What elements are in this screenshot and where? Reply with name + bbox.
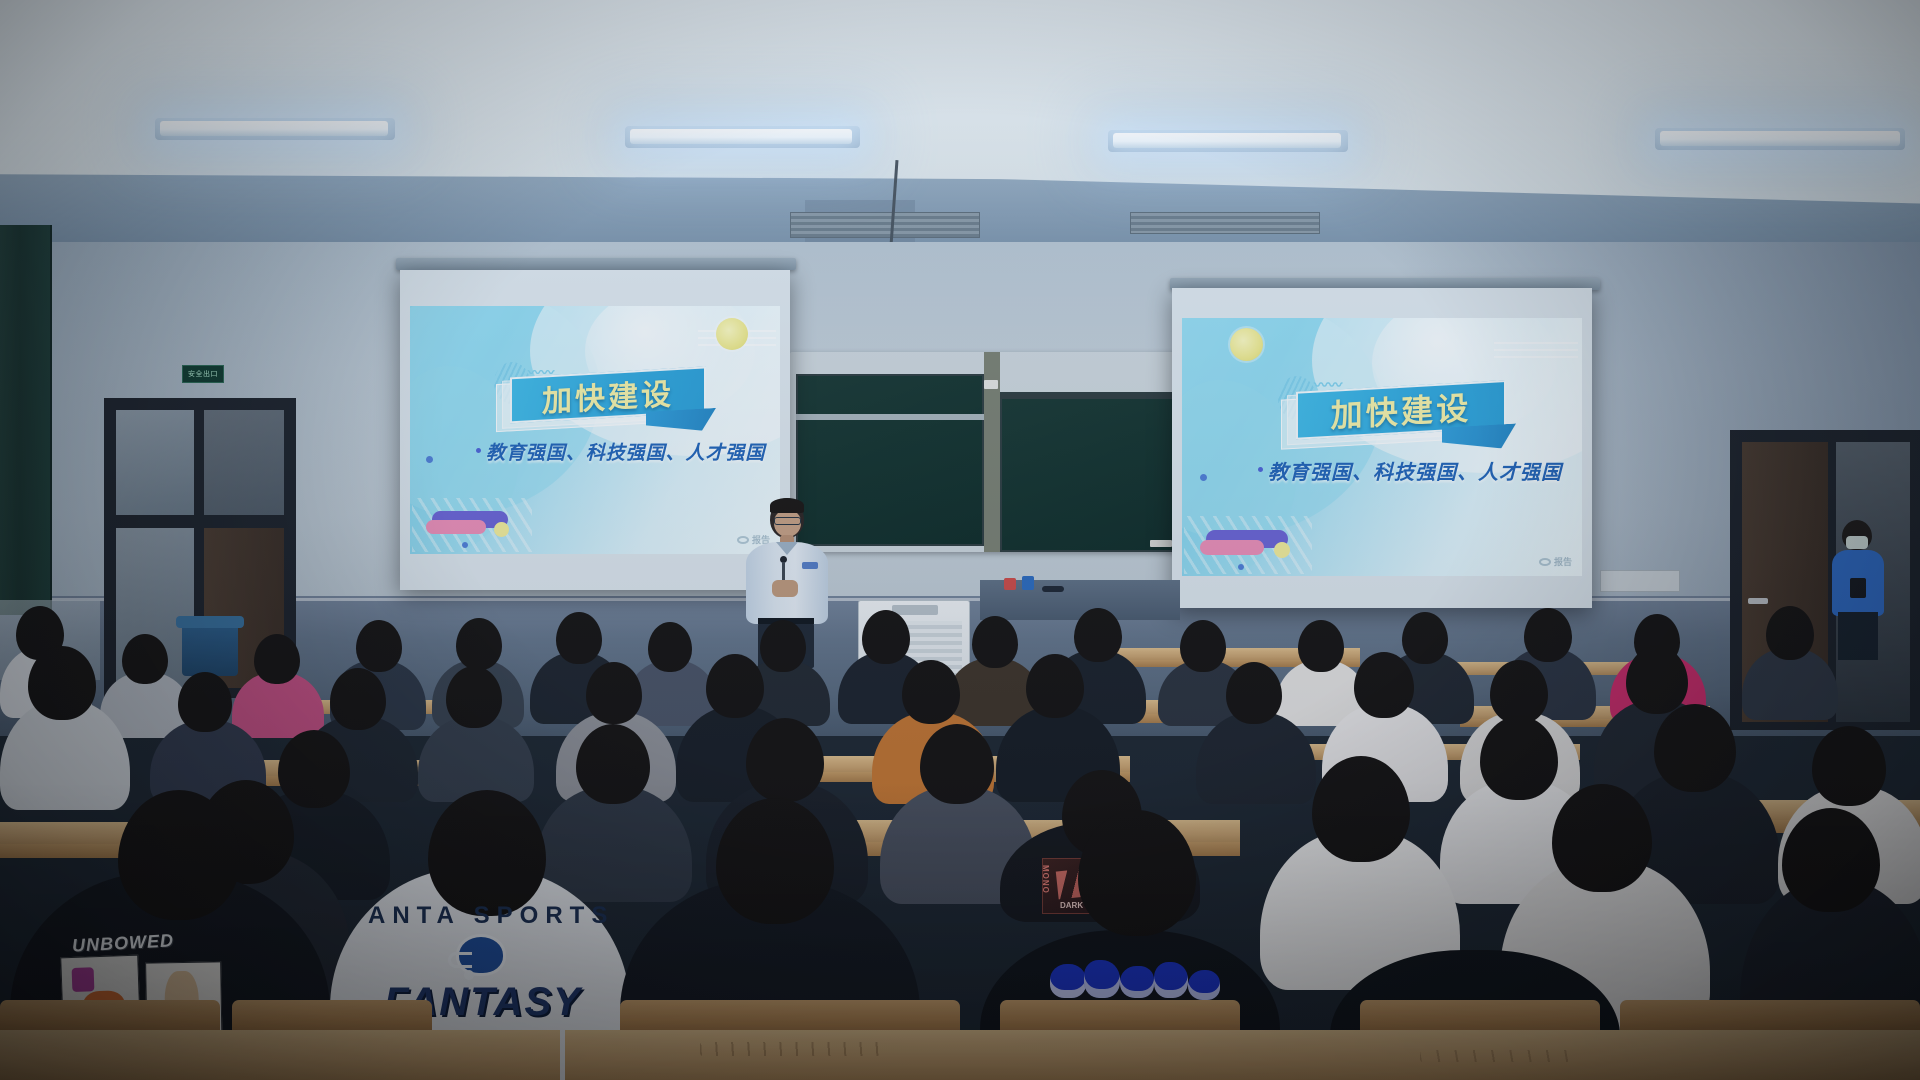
student-head [920, 724, 994, 804]
student-head [1782, 808, 1880, 912]
ceiling-light [160, 121, 388, 136]
student-head [1298, 620, 1344, 672]
slide-dot-blue [1200, 474, 1207, 481]
student-head [356, 620, 402, 672]
student-head [1480, 716, 1558, 800]
blackboard-rail [1000, 394, 1186, 399]
student-head [1078, 810, 1196, 936]
chalk-tray-eraser[interactable] [984, 380, 998, 389]
student-head [446, 666, 502, 728]
glasses-icon [774, 517, 801, 525]
blackboard-rail [796, 414, 984, 420]
slide-pill-pink [1200, 540, 1264, 555]
left-door-glass [204, 410, 284, 515]
student-head [118, 790, 240, 920]
front-bench-back [1360, 1000, 1600, 1034]
student-head [716, 798, 834, 924]
front-bench-back [1620, 1000, 1920, 1034]
slide-bullet-dot [476, 448, 481, 453]
student-head [122, 634, 168, 684]
student-head [1026, 654, 1084, 718]
doorway-person-phone [1850, 578, 1866, 598]
lectern-item-cup[interactable] [1022, 576, 1034, 590]
front-desk-surface [0, 1030, 560, 1080]
front-bench-back [1000, 1000, 1240, 1034]
right-door-handle[interactable] [1748, 598, 1768, 604]
exit-sign: 安全出口 [182, 365, 224, 383]
lectern-item-pen[interactable] [1042, 586, 1064, 592]
ceiling-light [1113, 133, 1341, 148]
student-head [254, 634, 300, 684]
student-head [862, 610, 910, 664]
student-head [706, 654, 764, 718]
graffiti-lettering-icon [1050, 958, 1230, 1002]
student-head [178, 672, 232, 732]
slide-dot-blue [1238, 564, 1244, 570]
student-head [1354, 652, 1414, 718]
blackboard-panel-right [1000, 392, 1186, 552]
slide-watermark-mark [1539, 558, 1551, 566]
window-curtain [0, 225, 52, 615]
student-head [586, 662, 642, 724]
slide-sun-circle [1230, 328, 1263, 361]
left-projection-screen: 加快建设 〰〰 教育强国、科技强国、人才强国 报告 [400, 270, 790, 590]
slide-pill-pink [426, 520, 486, 534]
left-door-glass [116, 410, 194, 515]
slide-dot-blue [462, 542, 468, 548]
ceiling-light [630, 129, 852, 144]
trash-bin-lid [176, 616, 244, 628]
slide-dot-blue [426, 456, 433, 463]
slide-subtitle: 教育强国、科技强国、人才强国 [486, 438, 765, 465]
slide-dot-yellow [494, 522, 509, 537]
student-head [456, 618, 502, 670]
slide-squiggle: 〰〰 [528, 362, 555, 381]
lectern-item-marker[interactable] [1004, 578, 1016, 590]
student-head [1074, 608, 1122, 662]
student-head [746, 718, 824, 802]
student-head [428, 790, 546, 916]
presenter-hands [772, 580, 798, 597]
doorway-person [1826, 520, 1890, 660]
exit-sign-label: 安全出口 [188, 369, 218, 379]
slide-sun-circle [716, 318, 748, 350]
chalk-tray-eraser[interactable] [1150, 540, 1172, 547]
right-projection-screen: 加快建设 〰〰 教育强国、科技强国、人才强国 报告 [1172, 288, 1592, 608]
student-head [1226, 662, 1282, 724]
slide-watermark-text: 报告 [1554, 555, 1572, 568]
front-bench-back [620, 1000, 960, 1034]
front-bench-back [0, 1000, 220, 1034]
left-slide: 加快建设 〰〰 教育强国、科技强国、人才强国 报告 [410, 306, 780, 554]
doorway-person-mask [1846, 536, 1868, 549]
slide-subtitle: 教育强国、科技强国、人才强国 [1268, 456, 1562, 485]
lecture-hall-photo: 安全出口 [0, 0, 1920, 1080]
student-head [1812, 726, 1886, 806]
ceiling-vent [790, 212, 980, 238]
slide-watermark: 报告 [1539, 555, 1572, 568]
doorway-person-trousers [1838, 612, 1878, 660]
student-head [1766, 606, 1814, 660]
student-head [648, 622, 692, 672]
slide-bullet-dot [1258, 467, 1263, 472]
slide-stripe-decor [1494, 342, 1578, 360]
presenter-shirt-logo [802, 562, 818, 569]
student-head [1312, 756, 1410, 862]
student-head [972, 616, 1018, 668]
slide-dot-yellow [1274, 542, 1290, 558]
slide-squiggle: 〰〰 [1314, 375, 1343, 395]
student-head [1180, 620, 1226, 672]
student-head [1552, 784, 1652, 892]
student-head [1490, 660, 1548, 724]
ceiling-vent [1130, 212, 1320, 234]
ceiling-light [1660, 131, 1900, 146]
right-slide: 加快建设 〰〰 教育强国、科技强国、人才强国 报告 [1182, 318, 1582, 576]
student-head [1402, 612, 1448, 664]
trash-bin [182, 622, 238, 676]
student-head [330, 668, 386, 730]
student-head [760, 620, 806, 672]
student-head [1654, 704, 1736, 792]
anta-top-label: ANTA SPORTS [368, 904, 594, 928]
wall-panel-right [1600, 570, 1680, 592]
student-head [556, 612, 602, 664]
student-head [902, 660, 960, 724]
left-screen-case [396, 258, 796, 270]
desk-graffiti-scratches [1420, 1050, 1570, 1062]
student-head [28, 646, 96, 720]
mono-graphic-side-label: MONO [1041, 865, 1049, 894]
desk-graffiti-scratches [700, 1042, 880, 1056]
football-helmet-icon [448, 932, 510, 980]
student-head [1626, 646, 1688, 714]
student-head [1524, 608, 1572, 662]
front-bench-back [232, 1000, 432, 1034]
presenter-hair [770, 498, 804, 513]
